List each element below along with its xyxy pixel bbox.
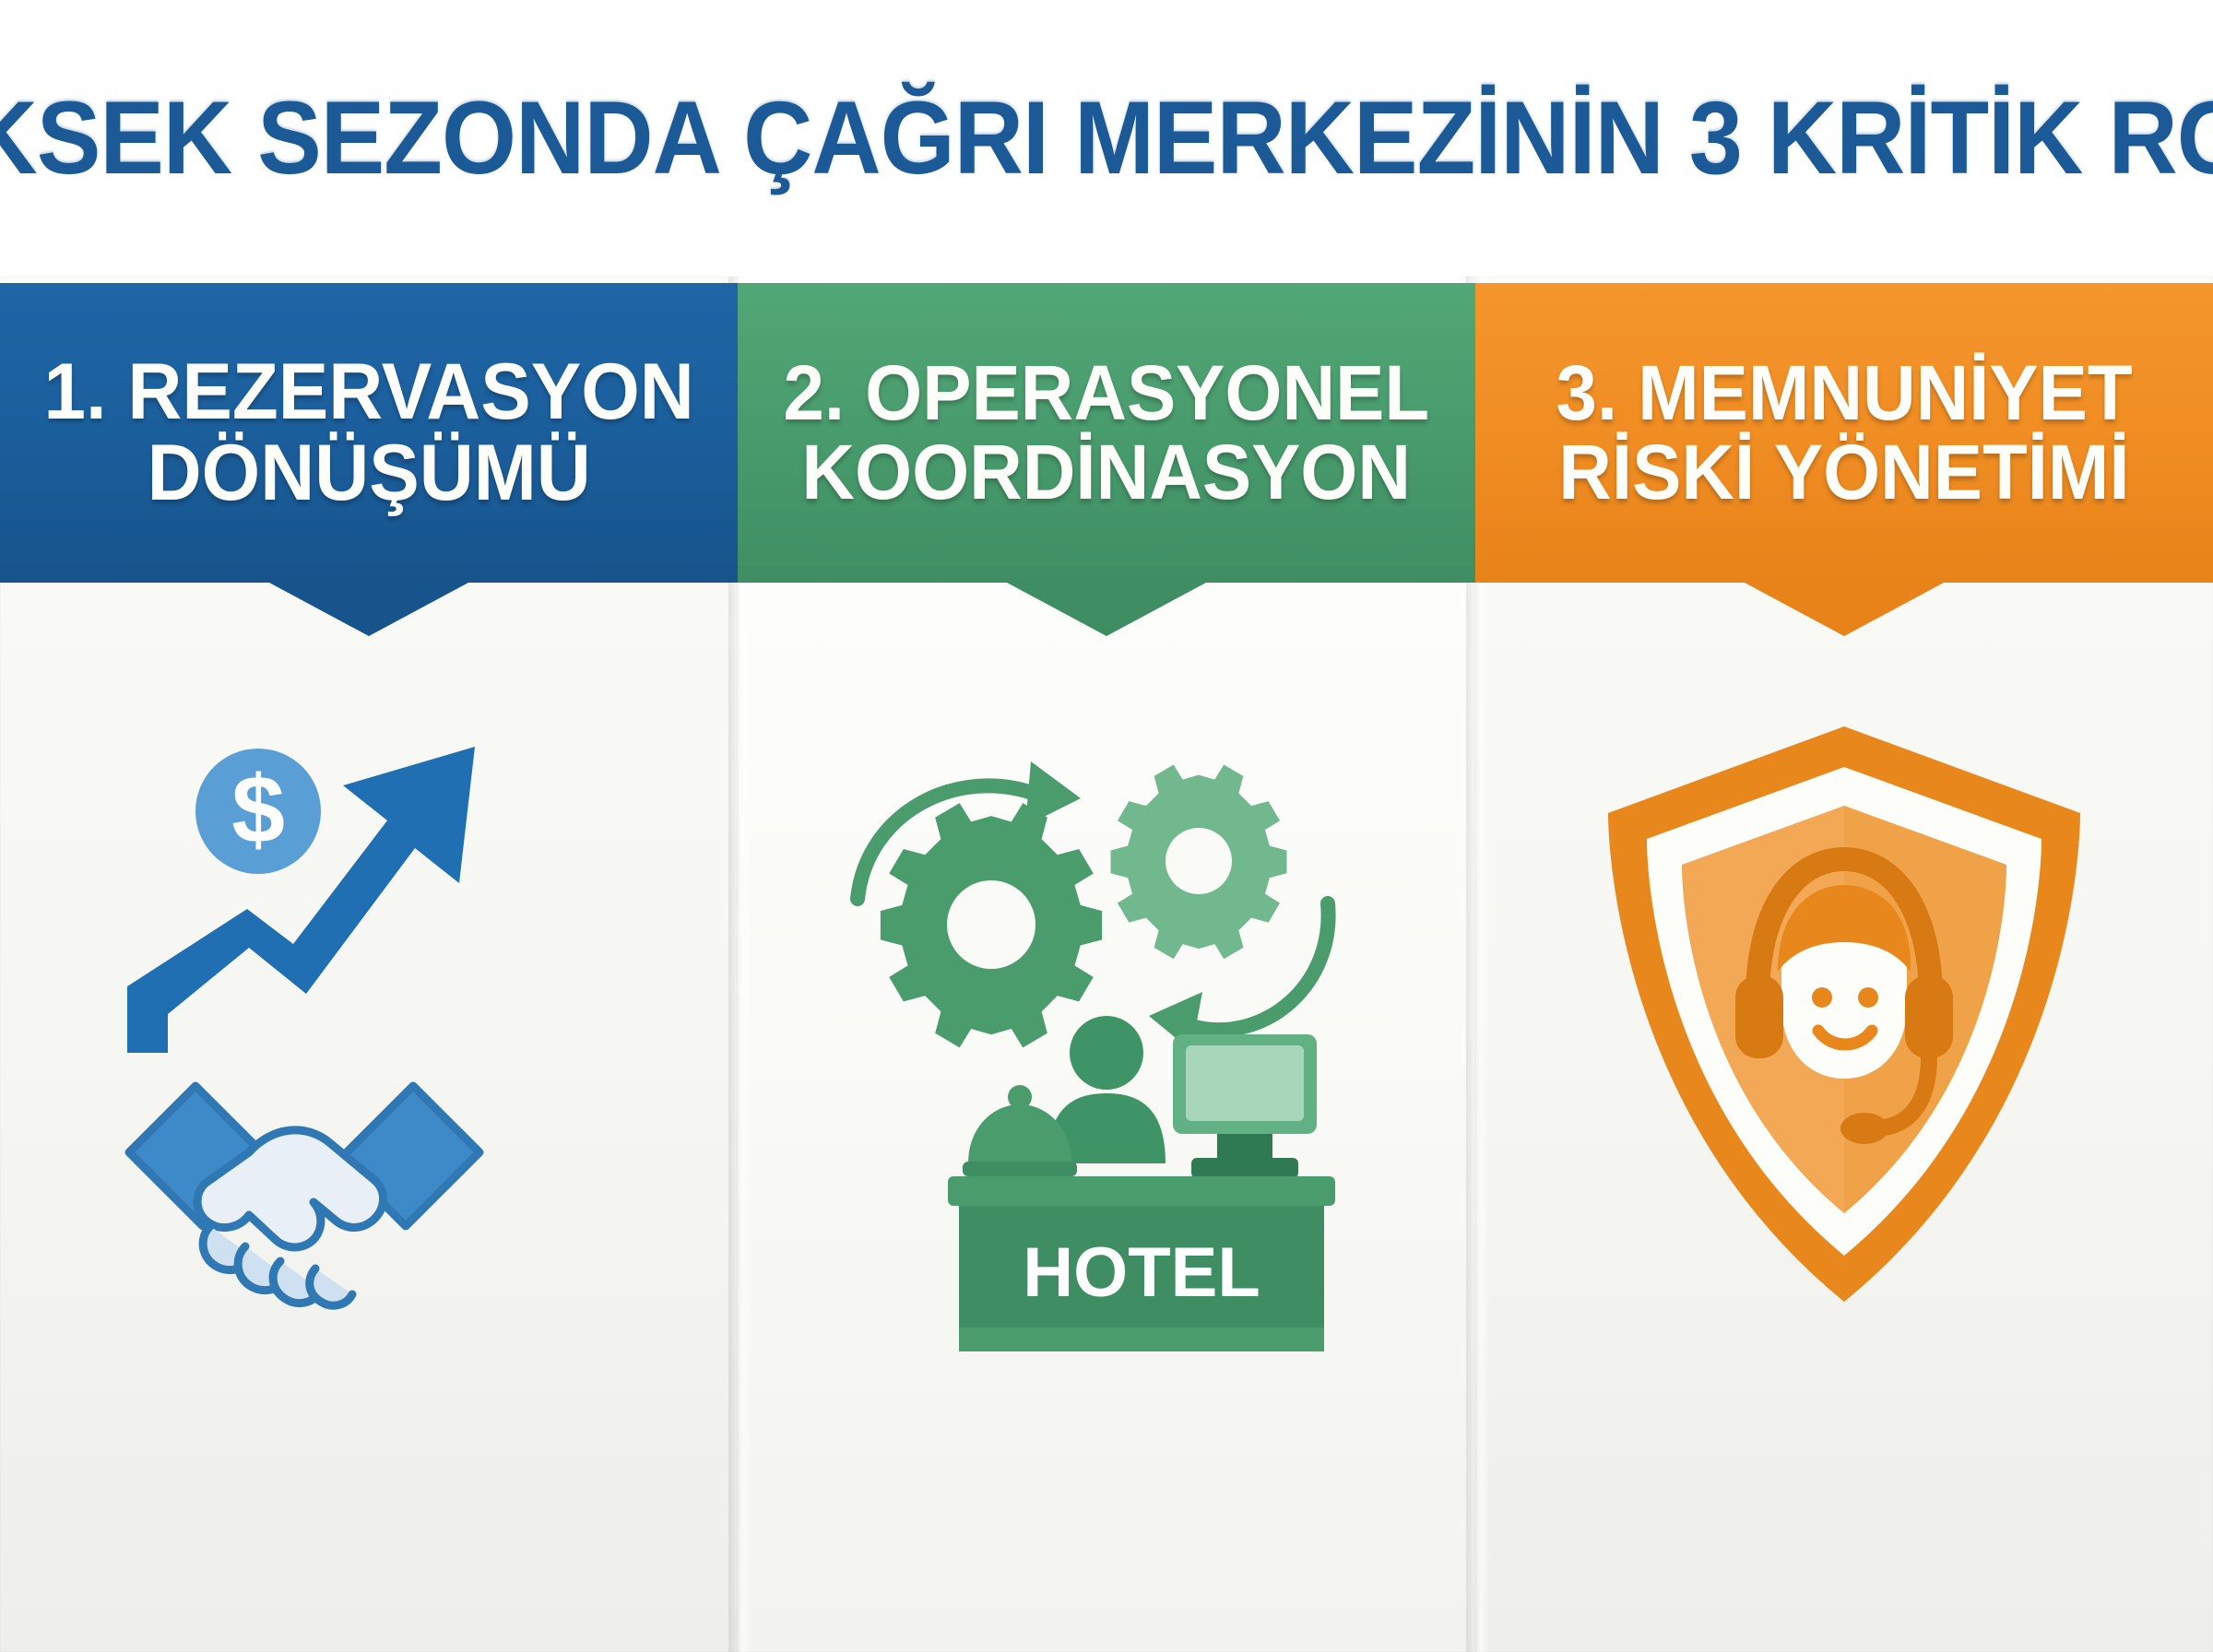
desk-top: [948, 1176, 1335, 1206]
column-header-2-line1: 2. OPERASYONEL: [784, 354, 1430, 433]
column-pointer-3: [1745, 583, 1944, 636]
memnuniyet-riski-yonetimi-icon: [1568, 710, 2121, 1355]
gear-large-icon: [881, 803, 1102, 1047]
column-header-2[interactable]: 2. OPERASYONEL KOORDİNASYON: [738, 283, 1475, 583]
column-icon-2: HOTEL: [738, 682, 1475, 1383]
headset-earcup-right: [1905, 975, 1953, 1058]
column-header-3-line2: RİSKİ YÖNETİMİ: [1558, 433, 2129, 513]
column-header-1[interactable]: 1. REZERVASYON DÖNÜŞÜMÜ: [0, 283, 738, 583]
page-title: YÜKSEK SEZONDA ÇAĞRI MERKEZİNİN 3 KRİTİK…: [0, 87, 2213, 190]
gear-small-icon: [1111, 764, 1287, 959]
handshake-icon: [129, 1086, 479, 1305]
column-header-1-line2: DÖNÜŞÜMÜ: [147, 433, 590, 514]
title-band: YÜKSEK SEZONDA ÇAĞRI MERKEZİNİN 3 KRİTİK…: [0, 0, 2213, 277]
column-pointer-2: [1007, 583, 1206, 636]
headset-earcup-left: [1735, 975, 1783, 1058]
column-header-2-line2: KOORDİNASYON: [802, 433, 1412, 513]
desk-base: [959, 1327, 1324, 1351]
column-header-1-line1: 1. REZERVASYON: [43, 352, 693, 433]
column-header-3[interactable]: 3. MEMNUNİYET RİSKİ YÖNETİMİ: [1475, 283, 2213, 583]
svg-text:$: $: [231, 757, 285, 864]
rezervasyon-donusumu-icon: $: [111, 710, 627, 1355]
clerk-head-icon: [1070, 1016, 1143, 1090]
dollar-coin-icon: $: [195, 749, 321, 874]
infographic-root: YÜKSEK SEZONDA ÇAĞRI MERKEZİNİN 3 KRİTİK…: [0, 0, 2213, 1652]
agent-eye-left: [1812, 987, 1832, 1008]
column-header-3-line1: 3. MEMNUNİYET: [1556, 354, 2132, 433]
column-icon-1: $: [0, 682, 738, 1383]
operasyonel-koordinasyon-icon: HOTEL: [830, 710, 1383, 1355]
agent-eye-right: [1858, 987, 1878, 1008]
column-icon-3: [1475, 682, 2213, 1383]
column-pointer-1: [269, 583, 468, 636]
service-bell-icon: [963, 1085, 1077, 1176]
headset-agent-icon: [1735, 859, 1953, 1226]
hotel-sign-text: HOTEL: [1023, 1233, 1260, 1312]
hotel-reception-desk-icon: HOTEL: [948, 1016, 1335, 1351]
